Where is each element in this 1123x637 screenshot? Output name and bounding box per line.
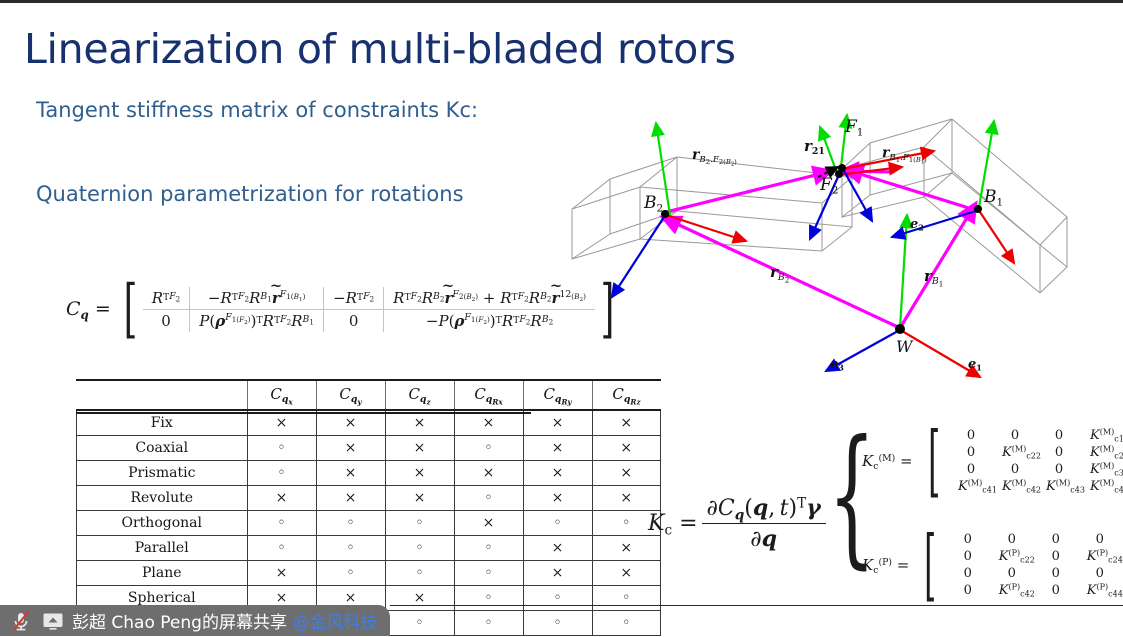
constraint-name: Prismatic (77, 461, 248, 486)
kc-cell: 0 (1034, 582, 1078, 599)
kc-cell: K(P)c44 (1078, 582, 1122, 599)
presentation-slide: Linearization of multi-bladed rotors Tan… (0, 0, 1123, 636)
constraint-name: Parallel (77, 536, 248, 561)
constraint-name: Orthogonal (77, 511, 248, 536)
figure-label-r21: r21 (804, 137, 825, 155)
figure-label-e2: e2 (910, 217, 924, 232)
constraint-cell: ◦ (454, 536, 523, 561)
kc-cell: 0 (949, 444, 993, 461)
kc-cell: 0 (1037, 461, 1081, 478)
constraint-cell: ◦ (247, 511, 316, 536)
kc-cell: 0 (949, 461, 993, 478)
wireframe-box-right (842, 119, 1067, 293)
kc-P-grid: 00000K(P)c220K(P)c2400000K(P)c420K(P)c44 (946, 531, 1122, 599)
header-col-qz: Cqz (385, 380, 454, 410)
kc-cell: 0 (1078, 565, 1122, 582)
constraint-cell: ◦ (523, 611, 592, 636)
red-vectors (666, 151, 1014, 377)
table-row: Plane×◦◦◦×× (77, 561, 661, 586)
figure-label-B2: B2 (644, 193, 663, 213)
cq-grid: RTF2 −RTF2RB1rF1(B1) −RTF2 RTF2RB2rF2(B2… (143, 287, 595, 332)
kc-denominator: ∂q (702, 523, 826, 552)
constraint-cell: ◦ (454, 486, 523, 511)
cq-lhs: Cq = (66, 298, 111, 320)
kc-cell: 0 (990, 565, 1034, 582)
figure-label-rB1F1: rB1.F1(B1) (882, 145, 927, 163)
cq-matrix-equation: Cq = [ RTF2 −RTF2RB1rF1(B1) −RTF2 RTF2RB… (66, 283, 620, 335)
bottom-divider (390, 605, 1123, 606)
constraint-cell: ◦ (316, 511, 385, 536)
kc-P-label: Kc(P) = (862, 556, 909, 574)
table-row: Revolute×××◦×× (77, 486, 661, 511)
microphone-muted-icon[interactable] (8, 610, 34, 632)
share-bar-text: 彭超 Chao Peng的屏幕共享 @金风科技 (72, 608, 377, 633)
figure-label-rB2: rB2 (770, 263, 789, 281)
kc-cell: K(P)c22 (990, 548, 1034, 565)
kc-cell: K(M)c42 (993, 478, 1037, 495)
constraint-cell: ◦ (454, 611, 523, 636)
constraint-cell: × (523, 536, 592, 561)
figure-label-rB1: rB1 (924, 267, 943, 285)
kc-equation: Kc = ∂Cq(q, t)Tγ ∂q (648, 495, 830, 552)
constraints-table: Cqx Cqy Cqz CqRx CqRy CqRz Fix××××××Coax… (76, 379, 661, 636)
kc-cell: K(M)c14 (1081, 427, 1123, 444)
constraint-cell: × (592, 436, 661, 461)
kc-M-label: Kc(M) = (862, 452, 913, 470)
constraint-cell: × (523, 436, 592, 461)
kc-cell: 0 (993, 461, 1037, 478)
constraint-cell: × (592, 561, 661, 586)
kc-cell: 0 (949, 427, 993, 444)
header-blank (77, 380, 248, 410)
constraint-name: Revolute (77, 486, 248, 511)
kc-cell: K(M)c24 (1081, 444, 1123, 461)
header-col-qRx: CqRx (454, 380, 523, 410)
kc-cell: 0 (990, 531, 1034, 548)
bullet-quaternion: Quaternion parametrization for rotations (36, 182, 464, 206)
constraint-cell: ◦ (592, 611, 661, 636)
constraint-cell: ◦ (385, 536, 454, 561)
kc-cell: K(M)c34 (1081, 461, 1123, 478)
constraint-cell: × (385, 586, 454, 611)
constraint-name: Plane (77, 561, 248, 586)
figure-label-B1: B1 (984, 187, 1003, 207)
constraint-cell: ◦ (385, 611, 454, 636)
kc-cell: 0 (1037, 427, 1081, 444)
header-col-qy: Cqy (316, 380, 385, 410)
kc-lhs: Kc = (648, 511, 698, 536)
kc-P-bracket-left: [ (924, 534, 936, 596)
constraint-cell: × (247, 561, 316, 586)
table-row: Orthogonal◦◦◦×◦◦ (77, 511, 661, 536)
screen-share-bar[interactable]: 彭超 Chao Peng的屏幕共享 @金风科技 (0, 605, 390, 636)
kc-cell: 0 (1078, 531, 1122, 548)
figure-label-F1: F1 (845, 117, 864, 137)
kc-cell: K(M)c43 (1037, 478, 1081, 495)
constraint-cell: × (523, 486, 592, 511)
kc-cell: K(M)c22 (993, 444, 1037, 461)
cq-cell-1-1: RTF2 (143, 287, 190, 310)
constraint-cell: × (385, 461, 454, 486)
kc-cell: 0 (946, 582, 990, 599)
constraint-cell: ◦ (316, 536, 385, 561)
constraint-cell: × (247, 486, 316, 511)
cq-cell-1-3: −RTF2 (323, 287, 383, 310)
node-W (895, 324, 905, 334)
kc-M-grid: 000K(M)c140K(M)c220K(M)c24000K(M)c34K(M)… (949, 427, 1123, 495)
kc-cell: K(P)c24 (1078, 548, 1122, 565)
node-F1 (838, 164, 846, 172)
constraint-cell: × (523, 410, 592, 436)
share-owner-text: 彭超 Chao Peng的屏幕共享 (72, 613, 292, 633)
constraint-cell: ◦ (247, 461, 316, 486)
cq-cell-2-3: 0 (323, 310, 383, 332)
constraint-cell: × (523, 561, 592, 586)
constraint-cell: × (316, 436, 385, 461)
slide-title: Linearization of multi-bladed rotors (24, 25, 736, 73)
table-row: Prismatic◦××××× (77, 461, 661, 486)
constraint-cell: × (316, 486, 385, 511)
constraint-cell: ◦ (454, 586, 523, 611)
constraint-cell: ◦ (523, 586, 592, 611)
constraint-cell: × (523, 461, 592, 486)
kc-cell: 0 (1037, 444, 1081, 461)
constraint-cell: × (592, 410, 661, 436)
kc-fraction: ∂Cq(q, t)Tγ ∂q (702, 495, 826, 552)
cq-cell-2-1: 0 (143, 310, 190, 332)
figure-label-F2: F2 (820, 175, 839, 195)
constraint-cell: × (454, 461, 523, 486)
kc-cell: 0 (1034, 548, 1078, 565)
cq-cell-1-2: −RTF2RB1rF1(B1) (189, 287, 323, 310)
constraint-cell: × (385, 436, 454, 461)
share-org-tag: @金风科技 (292, 613, 377, 633)
screen-share-icon[interactable] (40, 610, 66, 632)
wireframe-box-left (572, 157, 852, 259)
constraint-cell: ◦ (247, 536, 316, 561)
constraints-table-body: Fix××××××Coaxial◦××◦××Prismatic◦×××××Rev… (77, 410, 661, 636)
kc-matrix-P: Kc(P) = [ 00000K(P)c220K(P)c2400000K(P)c… (862, 531, 1123, 599)
kc-M-bracket-left: [ (928, 430, 940, 492)
multibody-3d-diagram: B2 B1 F1 F2 r21 rB2.F2(B2) rB1.F1(B1) rB… (552, 99, 1097, 399)
constraint-cell: ◦ (247, 436, 316, 461)
kc-cell: 0 (993, 427, 1037, 444)
constraint-cell: ◦ (592, 586, 661, 611)
kc-cell: 0 (1034, 531, 1078, 548)
kc-matrix-M: Kc(M) = [ 000K(M)c140K(M)c220K(M)c24000K… (862, 427, 1123, 495)
constraint-cell: ◦ (523, 511, 592, 536)
constraint-cell: ◦ (454, 436, 523, 461)
constraint-cell: × (385, 486, 454, 511)
header-col-qx: Cqx (247, 380, 316, 410)
constraint-cell: × (316, 461, 385, 486)
vector-rB1F1 (844, 169, 972, 209)
constraint-cell: ◦ (454, 561, 523, 586)
constraint-cell: × (592, 461, 661, 486)
bullet-tangent-stiffness: Tangent stiffness matrix of constraints … (36, 98, 478, 122)
cq-cell-2-2: P(ρF1(F2))TRTF2RB1 (189, 310, 323, 332)
kc-cell: 0 (946, 565, 990, 582)
constraint-cell: ◦ (385, 561, 454, 586)
kc-cell: K(P)c42 (990, 582, 1034, 599)
bracket-left: [ (123, 283, 137, 335)
figure-label-W: W (896, 337, 912, 356)
constraint-name: Coaxial (77, 436, 248, 461)
figure-label-e3: e3 (830, 357, 844, 372)
kc-cell: 0 (946, 548, 990, 565)
kc-cell: 0 (946, 531, 990, 548)
constraint-cell: × (454, 511, 523, 536)
table-row: Parallel◦◦◦◦×× (77, 536, 661, 561)
constraint-cell: ◦ (385, 511, 454, 536)
kc-numerator: ∂Cq(q, t)Tγ (702, 495, 826, 523)
kc-cell: K(M)c44 (1081, 478, 1123, 495)
table-top-rule (76, 379, 531, 381)
table-mid-rule (76, 412, 531, 414)
figure-label-e1: e1 (968, 357, 982, 372)
node-B1 (974, 205, 982, 213)
figure-label-rB2F2: rB2.F2(B2) (692, 147, 737, 165)
table-row: Coaxial◦××◦×× (77, 436, 661, 461)
kc-cell: 0 (1034, 565, 1078, 582)
kc-cell: K(M)c41 (949, 478, 993, 495)
constraint-cell: ◦ (316, 561, 385, 586)
